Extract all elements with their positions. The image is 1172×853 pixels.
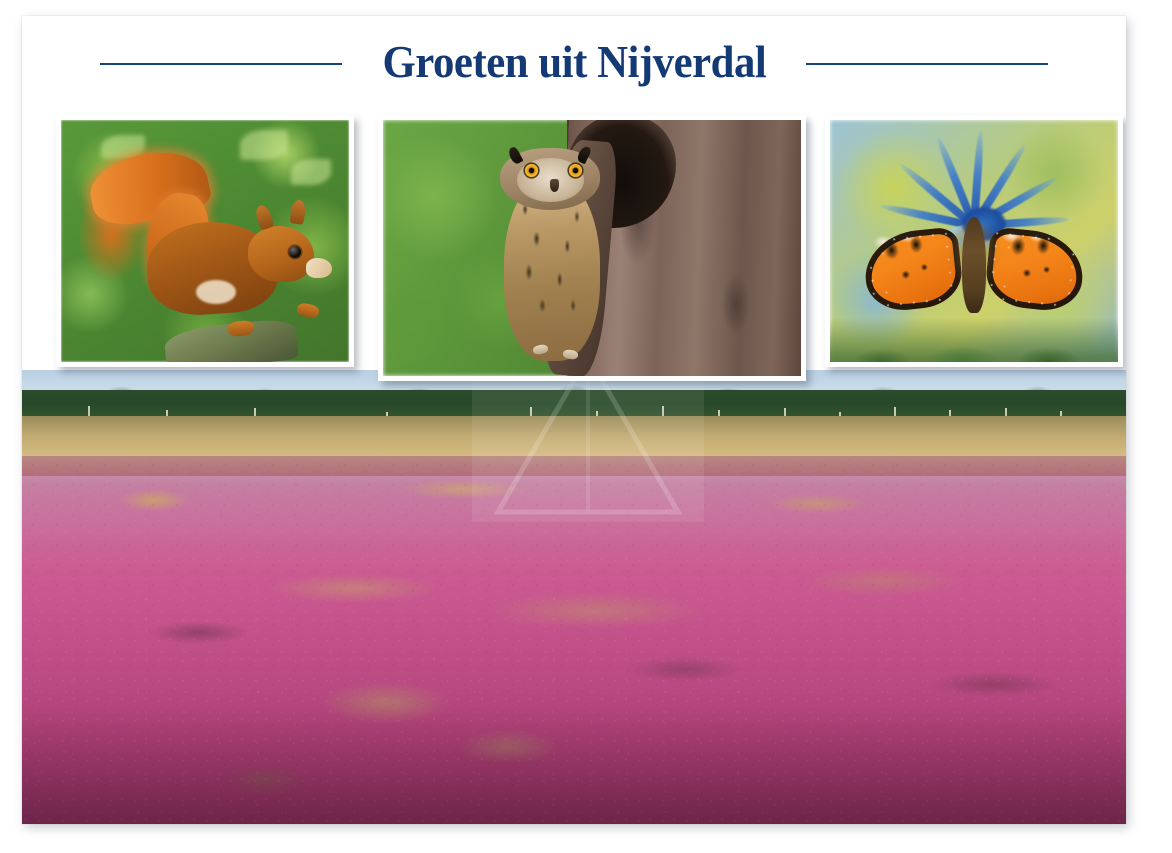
postcard: Groeten uit Nijverdal (22, 16, 1126, 824)
owl-eye (569, 164, 582, 177)
foreground-foliage (830, 318, 1118, 362)
squirrel-image (61, 120, 349, 362)
postcard-stage: Groeten uit Nijverdal (0, 0, 1172, 853)
butterfly-wing-left (861, 227, 965, 315)
butterfly-body (962, 217, 986, 313)
postcard-header: Groeten uit Nijverdal (22, 16, 1126, 108)
inset-photo-owl[interactable] (378, 115, 806, 381)
squirrel-eye (289, 246, 301, 258)
inset-photo-butterfly[interactable] (825, 115, 1123, 367)
squirrel-belly (196, 280, 236, 304)
heather-foreground-shadow (22, 704, 1126, 824)
background-photo-heath (22, 370, 1126, 824)
butterfly-wing-right (984, 227, 1088, 315)
inset-photo-squirrel[interactable] (56, 115, 354, 367)
butterfly-image (830, 120, 1118, 362)
title-rule-right (806, 63, 1048, 65)
leaf-shape (291, 159, 331, 185)
heather-field (22, 456, 1126, 824)
owl-image (383, 120, 801, 376)
squirrel-head (248, 226, 314, 282)
squirrel-snout (306, 258, 332, 278)
title-rule-left (100, 63, 342, 65)
owl-eye (525, 164, 538, 177)
leaf-shape (240, 130, 288, 160)
page-title: Groeten uit Nijverdal (382, 39, 766, 85)
